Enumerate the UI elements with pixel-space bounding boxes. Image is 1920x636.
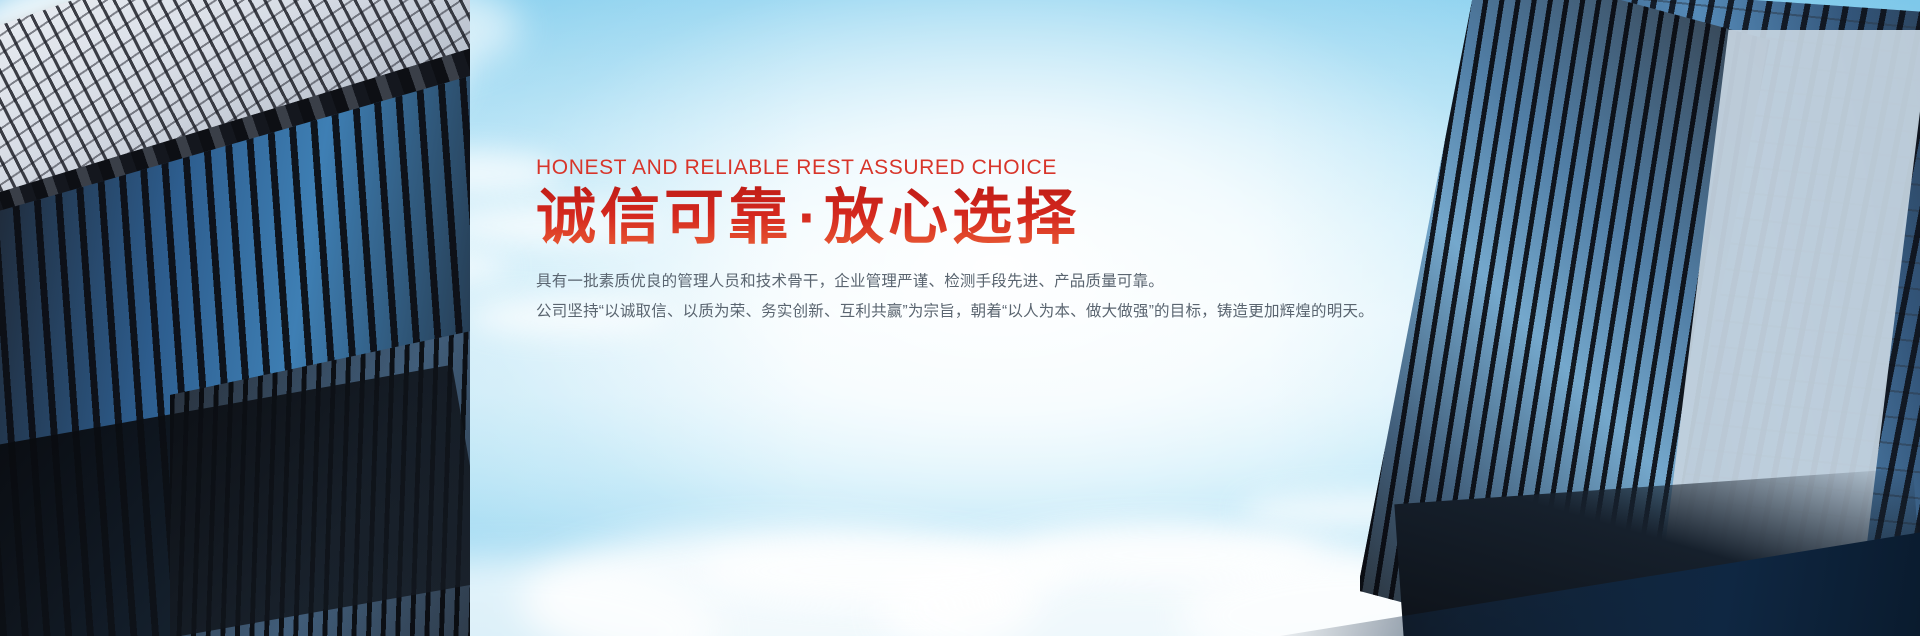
banner-description: 具有一批素质优良的管理人员和技术骨干，企业管理严谨、检测手段先进、产品质量可靠。…	[536, 267, 1436, 327]
page-title: 诚信可靠·放心选择	[536, 186, 1436, 251]
office-building-left	[0, 0, 470, 636]
office-building-right	[1360, 0, 1920, 636]
headline-left: 诚信可靠	[536, 184, 792, 251]
description-line-1: 具有一批素质优良的管理人员和技术骨干，企业管理严谨、检测手段先进、产品质量可靠。	[536, 267, 1436, 297]
headline-separator: ·	[792, 184, 824, 251]
banner-copy: HONEST AND RELIABLE REST ASSURED CHOICE …	[536, 155, 1436, 327]
description-line-2: 公司坚持“以诚取信、以质为荣、务实创新、互利共赢”为宗旨，朝着“以人为本、做大做…	[536, 297, 1436, 327]
hero-banner: HONEST AND RELIABLE REST ASSURED CHOICE …	[0, 0, 1920, 636]
cloud-icon	[1020, 529, 1320, 581]
headline-right: 放心选择	[824, 184, 1080, 251]
cloud-icon	[700, 536, 1080, 606]
banner-eyebrow: HONEST AND RELIABLE REST ASSURED CHOICE	[536, 155, 1436, 180]
